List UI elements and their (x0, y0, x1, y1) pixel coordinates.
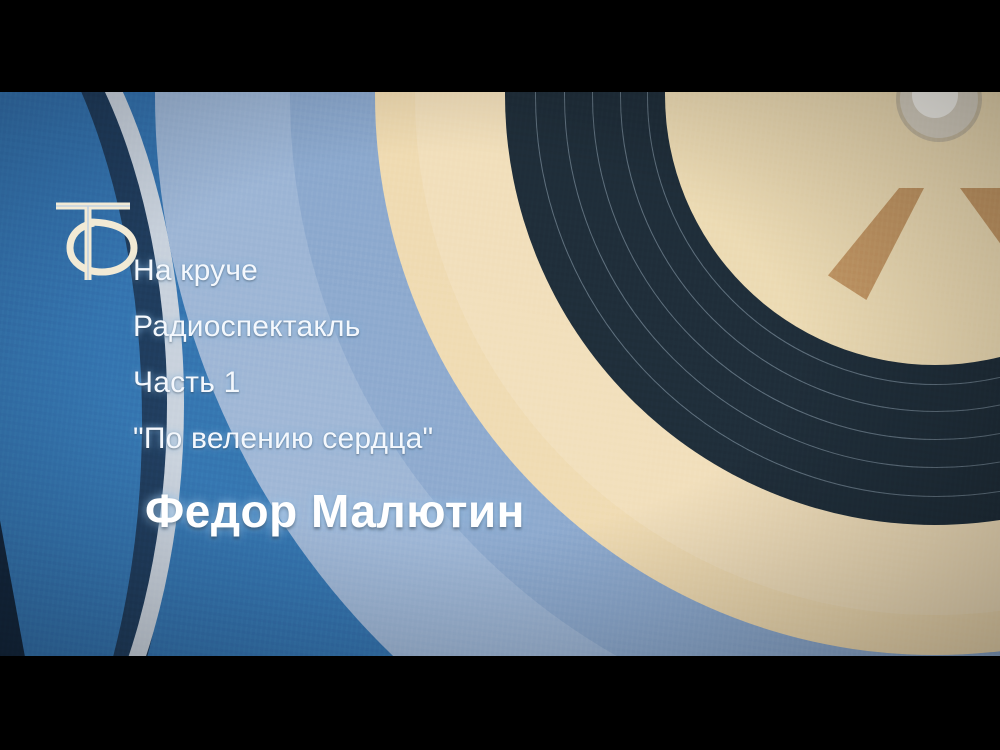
title-line: Радиоспектакль (133, 312, 833, 342)
artwork-frame: На круче Радиоспектакль Часть 1 "По веле… (0, 92, 1000, 656)
performer-name: Федор Малютин (133, 484, 833, 538)
title-block: На круче Радиоспектакль Часть 1 "По веле… (133, 256, 833, 538)
letterbox-bottom (0, 656, 1000, 750)
title-line: На круче (133, 256, 833, 286)
video-thumbnail: На круче Радиоспектакль Часть 1 "По веле… (0, 0, 1000, 750)
title-line: Часть 1 (133, 368, 833, 398)
title-line: "По велению сердца" (133, 424, 833, 454)
letterbox-top (0, 0, 1000, 92)
